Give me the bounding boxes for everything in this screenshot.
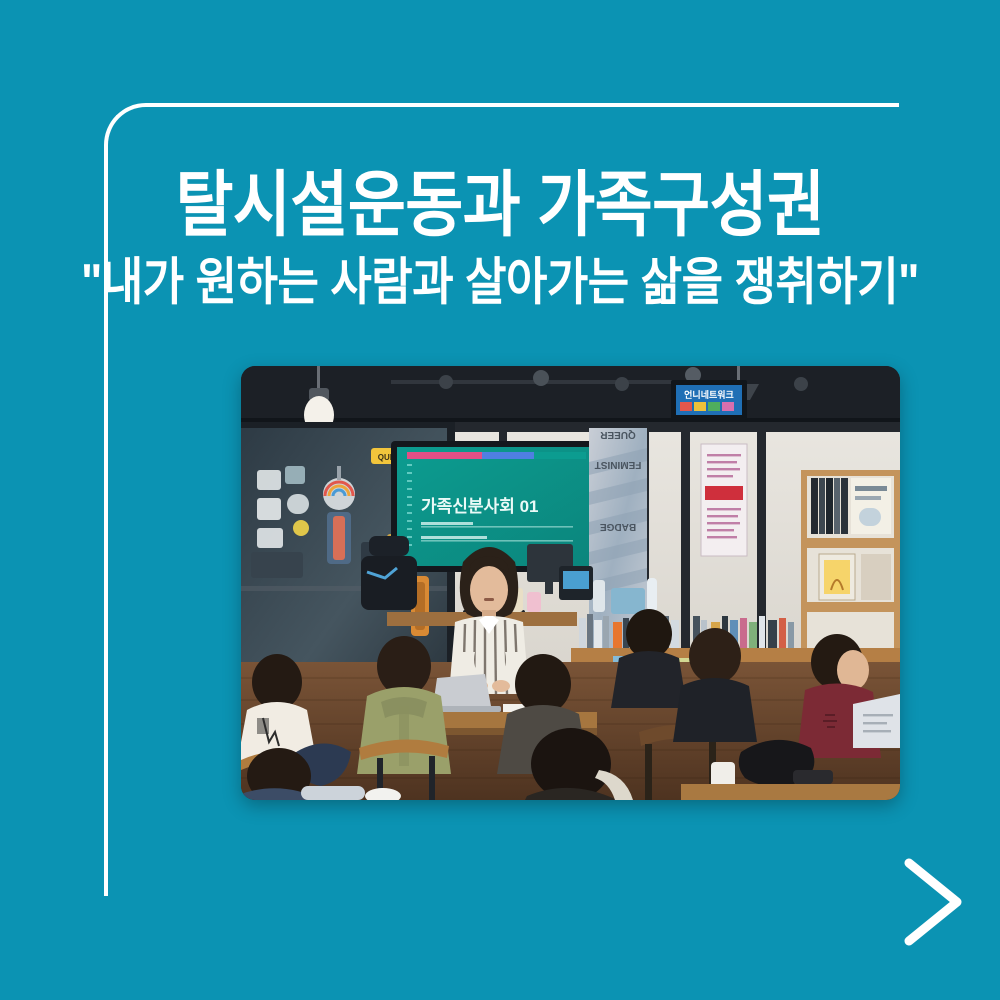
event-photo-alt: 강연자가 스크린 앞에서 발표하고 청중이 의자에 앉아 경청하는 실내 강연 … <box>241 366 242 367</box>
event-photo: 강연자가 스크린 앞에서 발표하고 청중이 의자에 앉아 경청하는 실내 강연 … <box>241 366 900 800</box>
next-arrow-button[interactable]: 다음 <box>893 853 973 951</box>
event-photo-illustration: QUEER <box>241 366 900 800</box>
presentation-screen-title: 가족신분사회 01 <box>421 497 538 516</box>
chevron-right-icon[interactable] <box>893 853 973 951</box>
page-subtitle: "내가 원하는 사람과 살아가는 삶을 쟁취하기" <box>0 255 1000 309</box>
headline-block: 탈시설운동과 가족구성권 "내가 원하는 사람과 살아가는 삶을 쟁취하기" <box>0 168 1000 302</box>
banner-text-badge: BADGE <box>600 521 636 532</box>
promo-card: 탈시설운동과 가족구성권 "내가 원하는 사람과 살아가는 삶을 쟁취하기" 강… <box>0 0 1000 1000</box>
page-title: 탈시설운동과 가족구성권 <box>0 168 1000 244</box>
banner-text-feminist: FEMINIST <box>595 459 642 470</box>
wall-sign-text: 언니네트워크 <box>684 389 734 400</box>
banner-text-queer: QUEER <box>599 429 635 440</box>
